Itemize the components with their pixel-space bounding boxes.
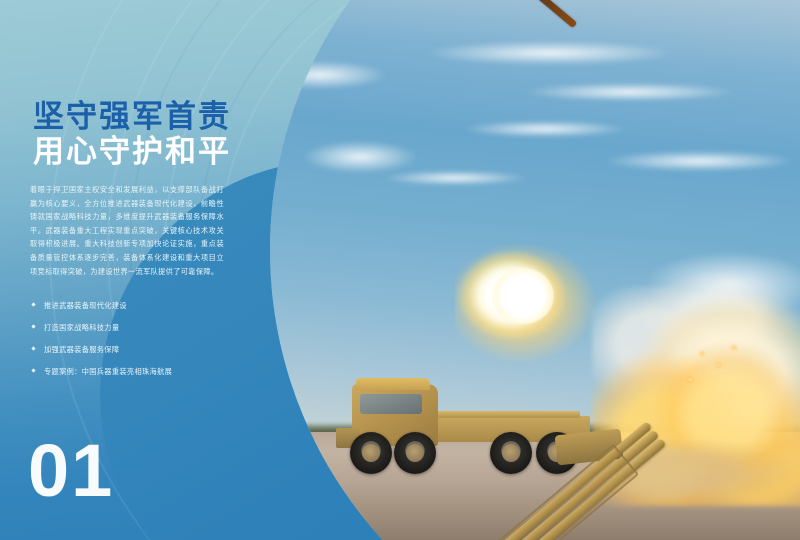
- section-number: 01: [28, 434, 114, 508]
- truck-bed-rail: [430, 411, 580, 418]
- cloud-streak: [420, 40, 680, 66]
- diamond-bullet-icon: [31, 368, 35, 372]
- list-item: 推进武器装备现代化建设: [30, 300, 240, 311]
- list-item-label: 推进武器装备现代化建设: [44, 301, 127, 310]
- page-title-line1: 坚守强军首责: [33, 100, 283, 134]
- diamond-bullet-icon: [31, 302, 35, 306]
- truck-wheel: [350, 432, 392, 474]
- truck-wheel: [394, 432, 436, 474]
- cloud-streak: [460, 120, 630, 138]
- photo-spark: [732, 346, 736, 349]
- photo-spark: [716, 364, 720, 367]
- cloud-streak: [520, 82, 740, 102]
- photo-spark: [700, 352, 704, 355]
- list-item-label: 加强武器装备服务保障: [44, 345, 119, 354]
- brochure-page: 坚守强军首责 用心守护和平 着眼于捍卫国家主权安全和发展利益，以支撑部队备战打赢…: [0, 0, 800, 540]
- list-item: 专题案例：中国兵器重装亮相珠海航展: [30, 366, 240, 377]
- photo-spark: [688, 378, 692, 381]
- body-paragraph: 着眼于捍卫国家主权安全和发展利益，以支撑部队备战打赢为核心要义，全方位推进武器装…: [30, 183, 224, 278]
- list-item-label: 打造国家战略科技力量: [44, 323, 119, 332]
- list-item: 加强武器装备服务保障: [30, 344, 240, 355]
- cloud-puff: [300, 140, 420, 174]
- truck-cab-roof: [356, 378, 430, 390]
- highlight-list: 推进武器装备现代化建设 打造国家战略科技力量 加强武器装备服务保障 专题案例：中…: [30, 300, 240, 388]
- page-title-line2: 用心守护和平: [33, 134, 283, 170]
- photo-muzzle-flash-core: [492, 268, 554, 324]
- diamond-bullet-icon: [31, 346, 35, 350]
- text-content: 坚守强军首责 用心守护和平 着眼于捍卫国家主权安全和发展利益，以支撑部队备战打赢…: [0, 0, 300, 540]
- list-item-label: 专题案例：中国兵器重装亮相珠海航展: [44, 367, 172, 376]
- page-title: 坚守强军首责 用心守护和平: [33, 100, 283, 170]
- cloud-streak: [600, 150, 800, 172]
- list-item: 打造国家战略科技力量: [30, 322, 240, 333]
- truck-wheel: [490, 432, 532, 474]
- diamond-bullet-icon: [31, 324, 35, 328]
- truck-windshield: [360, 394, 422, 414]
